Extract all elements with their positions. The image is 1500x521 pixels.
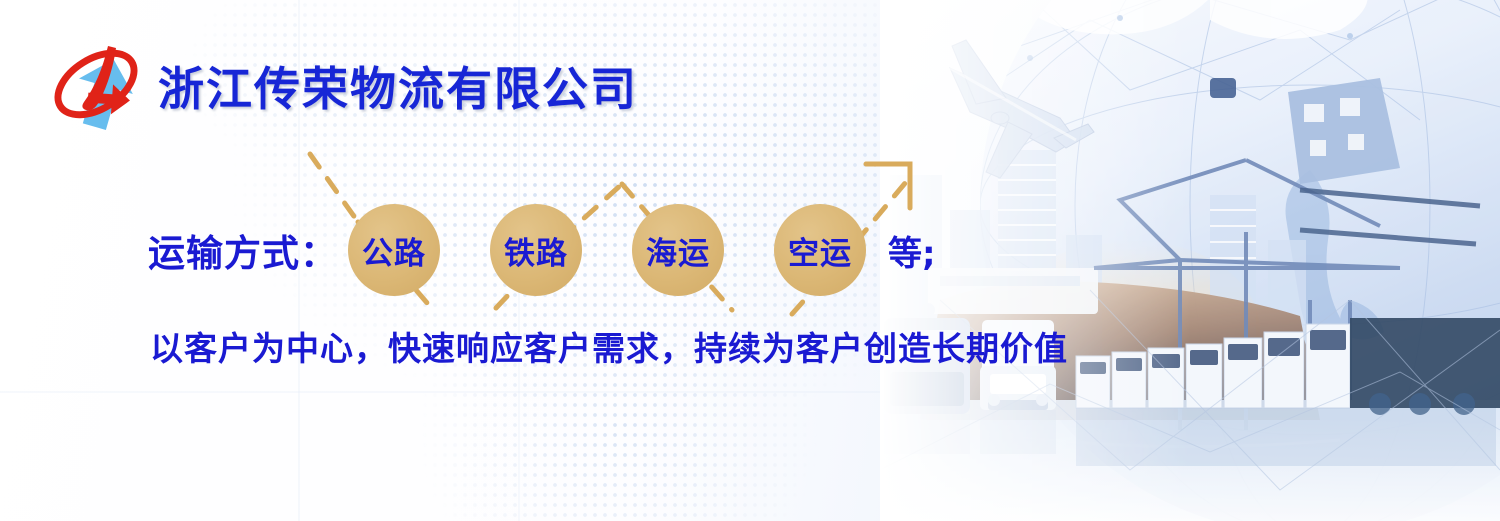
transport-mode-air[interactable]: 空运 (774, 204, 866, 296)
logistics-photo-composite (880, 0, 1500, 521)
transport-mode-label: 公路 (362, 228, 426, 273)
transport-mode-road[interactable]: 公路 (348, 204, 440, 296)
company-name: 浙江传荣物流有限公司 (158, 53, 638, 119)
logistics-banner: 浙江传荣物流有限公司 运输方式： 公路 铁路 海运 空运 (0, 0, 1500, 521)
logo-block: 浙江传荣物流有限公司 (48, 36, 638, 136)
transport-modes-row: 运输方式： 公路 铁路 海运 空运 等; (148, 204, 936, 296)
transport-mode-sea[interactable]: 海运 (632, 204, 724, 296)
transport-mode-label: 空运 (788, 228, 852, 273)
company-logo-icon (48, 36, 144, 136)
transport-suffix: 等; (888, 226, 936, 275)
transport-mode-rail[interactable]: 铁路 (490, 204, 582, 296)
transport-mode-label: 海运 (646, 228, 710, 273)
tagline: 以客户为中心，快速响应客户需求，持续为客户创造长期价值 (150, 322, 1068, 370)
transport-label: 运输方式： (148, 223, 338, 277)
transport-mode-label: 铁路 (504, 228, 568, 273)
